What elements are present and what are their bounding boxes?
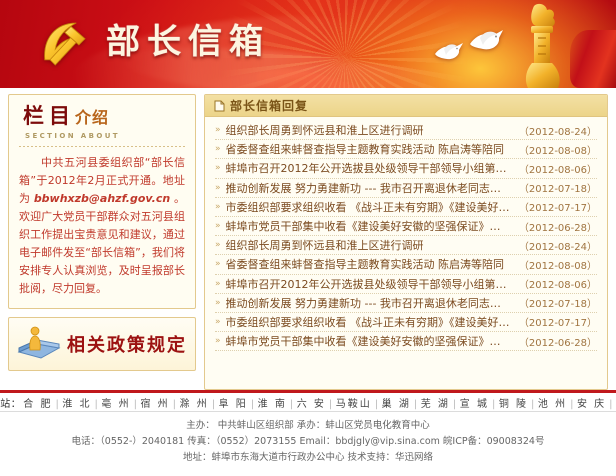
bullet-icon: » [215,221,221,231]
city-separator: | [328,399,334,410]
site-banner: 部长信箱 [0,0,616,88]
list-item-date: （2012-08-06） [511,276,597,291]
bullet-icon: » [215,163,221,173]
city-separator: | [172,399,178,410]
list-item-date: （2012-07-17） [511,199,597,214]
city-separator: | [250,399,256,410]
banner-title: 部长信箱 [106,16,270,68]
list-item[interactable]: »蚌埠市召开2012年公开选拔县处级领导干部领导小组第二次会议（2012-08-… [215,159,597,178]
list-item-date: （2012-08-08） [511,257,597,272]
city-link-6[interactable]: 淮 南 [256,399,289,410]
city-links-container: 市县分站：合 肥|淮 北|亳 州|宿 州|滁 州|阜 阳|淮 南|六 安|马鞍山… [0,395,616,410]
city-separator: | [452,399,458,410]
list-item-title[interactable]: 市委组织部要求组织收看 《战斗正未有穷期》《建设美好安徽的坚强保证》题片 [226,199,511,215]
golden-torch-icon [512,2,570,88]
city-link-13[interactable]: 池 州 [536,399,569,410]
bullet-icon: » [215,144,221,154]
city-link-5[interactable]: 阜 阳 [217,399,250,410]
city-separator: | [289,399,295,410]
divider [19,146,185,147]
city-link-7[interactable]: 六 安 [295,399,328,410]
city-link-2[interactable]: 亳 州 [99,399,132,410]
dove-icon [432,40,466,62]
city-link-11[interactable]: 宣 城 [458,399,491,410]
bullet-icon: » [215,279,221,289]
intro-text-part2: 。欢迎广大党员干部群众对五河县组织工作提出宝贵意见和建议，通过电子邮件发至“部长… [19,192,185,295]
city-substation-bar: 市县分站：合 肥|淮 北|亳 州|宿 州|滁 州|阜 阳|淮 南|六 安|马鞍山… [0,390,616,412]
list-item-title[interactable]: 省委督查组来蚌督查指导主题教育实践活动 陈启涛等陪同 [226,141,511,157]
book-person-icon [17,326,61,362]
list-item[interactable]: »组织部长周勇到怀远县和淮上区进行调研（2012-08-24） [215,121,597,140]
intro-paragraph: 中共五河县委组织部“部长信箱”于2012年2月正式开通。地址为bbwhxzb@a… [19,154,185,298]
list-item[interactable]: »市委组织部要求组织收看 《战斗正未有穷期》《建设美好安徽的坚强保证》题片（20… [215,313,597,332]
list-item-date: （2012-07-18） [511,180,597,195]
intro-email-address: bbwhxzb@ahzf.gov.cn [34,192,170,205]
bullet-icon: » [215,125,221,135]
left-column: 栏目介绍 SECTION ABOUT 中共五河县委组织部“部长信箱”于2012年… [8,94,196,390]
city-link-0[interactable]: 合 肥 [21,399,54,410]
city-separator: | [491,399,497,410]
list-item-date: （2012-08-24） [511,123,597,138]
list-item-title[interactable]: 推动创新发展 努力勇建新功 --- 我市召开离退休老同志组织工作情况通报会 [226,295,511,311]
reply-list-title: 部长信箱回复 [230,97,308,114]
reply-list-panel: 部长信箱回复 »组织部长周勇到怀远县和淮上区进行调研（2012-08-24）»省… [204,94,608,390]
list-item-title[interactable]: 推动创新发展 努力勇建新功 --- 我市召开离退休老同志组织工作情况通报会 [226,180,511,196]
list-item[interactable]: »组织部长周勇到怀远县和淮上区进行调研（2012-08-24） [215,236,597,255]
city-link-8[interactable]: 马鞍山 [334,399,374,410]
intro-heading: 栏目介绍 SECTION ABOUT [19,103,185,140]
bullet-icon: » [215,202,221,212]
city-link-12[interactable]: 铜 陵 [497,399,530,410]
list-item[interactable]: »蚌埠市党员干部集中收看《建设美好安徽的坚强保证》专题片（2012-06-28） [215,332,597,351]
list-item[interactable]: »省委督查组来蚌督查指导主题教育实践活动 陈启涛等陪同（2012-08-08） [215,140,597,159]
dove-icon [466,26,506,54]
city-separator: | [374,399,380,410]
page-body: 栏目介绍 SECTION ABOUT 中共五河县委组织部“部长信箱”于2012年… [0,88,616,390]
document-icon [214,100,225,112]
list-item[interactable]: »蚌埠市党员干部集中收看《建设美好安徽的坚强保证》专题片（2012-06-28） [215,217,597,236]
list-item-title[interactable]: 蚌埠市党员干部集中收看《建设美好安徽的坚强保证》专题片 [226,333,511,349]
footer-line-contact: 电话：（0552-）2040181 传真：（0552）2073155 Email… [0,434,616,450]
footer-line-organizer: 主办： 中共蚌山区组织部 承办：蚌山区党员电化教育中心 [0,418,616,434]
list-item[interactable]: »推动创新发展 努力勇建新功 --- 我市召开离退休老同志组织工作情况通报会（2… [215,294,597,313]
list-item-title[interactable]: 省委督查组来蚌督查指导主题教育实践活动 陈启涛等陪同 [226,256,511,272]
site-footer: 主办： 中共蚌山区组织部 承办：蚌山区党员电化教育中心 电话：（0552-）20… [0,412,616,472]
list-item-title[interactable]: 市委组织部要求组织收看 《战斗正未有穷期》《建设美好安徽的坚强保证》题片 [226,314,511,330]
list-item[interactable]: »市委组织部要求组织收看 《战斗正未有穷期》《建设美好安徽的坚强保证》题片（20… [215,198,597,217]
list-item-date: （2012-07-18） [511,295,597,310]
list-item-title[interactable]: 组织部长周勇到怀远县和淮上区进行调研 [226,122,511,138]
city-separator: | [211,399,217,410]
city-bar-label: 市县分站： [0,399,21,410]
list-item-title[interactable]: 蚌埠市召开2012年公开选拔县处级领导干部领导小组第二次会议 [226,276,511,292]
list-item-title[interactable]: 蚌埠市召开2012年公开选拔县处级领导干部领导小组第二次会议 [226,160,511,176]
list-item[interactable]: »推动创新发展 努力勇建新功 --- 我市召开离退休老同志组织工作情况通报会（2… [215,179,597,198]
city-link-4[interactable]: 滁 州 [178,399,211,410]
hammer-sickle-icon [36,16,92,72]
list-item-date: （2012-06-28） [511,334,597,349]
bullet-icon: » [215,336,221,346]
related-policy-title: 相关政策规定 [67,331,187,357]
city-link-1[interactable]: 淮 北 [60,399,93,410]
list-item-date: （2012-08-06） [511,161,597,176]
list-item[interactable]: »省委督查组来蚌督查指导主题教育实践活动 陈启涛等陪同（2012-08-08） [215,255,597,274]
intro-heading-main: 栏目 [23,103,75,128]
intro-heading-english: SECTION ABOUT [23,132,185,140]
list-item-title[interactable]: 蚌埠市党员干部集中收看《建设美好安徽的坚强保证》专题片 [226,218,511,234]
city-link-9[interactable]: 巢 湖 [380,399,413,410]
list-item-date: （2012-06-28） [511,219,597,234]
list-item-date: （2012-08-08） [511,142,597,157]
bullet-icon: » [215,183,221,193]
section-intro-panel: 栏目介绍 SECTION ABOUT 中共五河县委组织部“部长信箱”于2012年… [8,94,196,309]
bullet-icon: » [215,298,221,308]
related-policy-panel[interactable]: 相关政策规定 [8,317,196,371]
list-item-date: （2012-07-17） [511,314,597,329]
red-flag-decoration [570,30,616,88]
reply-list-header: 部长信箱回复 [205,95,607,117]
city-link-14[interactable]: 安 庆 [575,399,608,410]
reply-news-list: »组织部长周勇到怀远县和淮上区进行调研（2012-08-24）»省委督查组来蚌督… [205,117,607,389]
city-separator: | [413,399,419,410]
bullet-icon: » [215,259,221,269]
city-link-10[interactable]: 芜 湖 [419,399,452,410]
footer-line-address: 地址：蚌埠市东海大道市行政办公中心 技术支持：华迅网络 [0,450,616,466]
bullet-icon: » [215,317,221,327]
list-item-title[interactable]: 组织部长周勇到怀远县和淮上区进行调研 [226,237,511,253]
intro-heading-sub: 介绍 [75,108,109,127]
list-item[interactable]: »蚌埠市召开2012年公开选拔县处级领导干部领导小组第二次会议（2012-08-… [215,275,597,294]
bullet-icon: » [215,240,221,250]
list-item-date: （2012-08-24） [511,238,597,253]
city-link-3[interactable]: 宿 州 [138,399,171,410]
